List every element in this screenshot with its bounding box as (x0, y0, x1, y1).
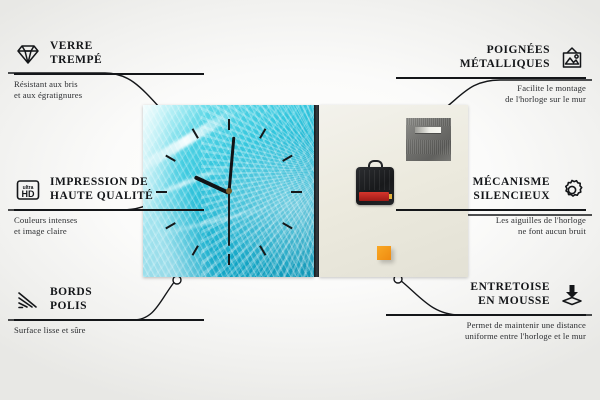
feature-verre-trempe: VERRE TREMPÉ Résistant aux bris et aux é… (14, 40, 204, 101)
picture-hanger-icon (558, 44, 586, 72)
feature-poignees-metalliques: POIGNÉES MÉTALLIQUES Facilite le montage… (396, 44, 586, 105)
divider (396, 209, 586, 211)
battery (359, 192, 389, 201)
feature-impression-haute-qualite: ultra HD IMPRESSION DE HAUTE QUALITÉ Cou… (14, 176, 204, 237)
metal-handle (406, 118, 451, 161)
clock-second-hand (228, 192, 230, 246)
feature-description: Résistant aux bris et aux égratignures (14, 79, 204, 102)
infographic-stage: VERRE TREMPÉ Résistant aux bris et aux é… (0, 0, 600, 400)
divider (14, 73, 204, 75)
feature-description: Facilite le montage de l'horloge sur le … (396, 83, 586, 106)
svg-text:HD: HD (22, 189, 35, 199)
feature-description: Surface lisse et sûre (14, 325, 204, 336)
feature-title: POIGNÉES MÉTALLIQUES (460, 44, 550, 71)
divider (14, 209, 204, 211)
foam-spacer (377, 246, 391, 260)
feature-title: ENTRETOISE EN MOUSSE (470, 281, 550, 308)
feature-bords-polis: BORDS POLIS Surface lisse et sûre (14, 286, 204, 336)
feature-title: IMPRESSION DE HAUTE QUALITÉ (50, 176, 153, 203)
feature-title: MÉCANISME SILENCIEUX (473, 176, 550, 203)
gear-icon (558, 176, 586, 204)
clock-center-cap (226, 188, 232, 194)
clock-mechanism (356, 167, 394, 205)
diamond-icon (14, 40, 42, 68)
mechanism-label (359, 170, 391, 190)
feature-header: ENTRETOISE EN MOUSSE (386, 281, 586, 309)
feature-entretoise-en-mousse: ENTRETOISE EN MOUSSE Permet de maintenir… (386, 281, 586, 342)
divider (386, 314, 586, 316)
divider (396, 77, 586, 79)
feature-title: VERRE TREMPÉ (50, 40, 102, 67)
feature-description: Couleurs intenses et image claire (14, 215, 204, 238)
feature-mecanisme-silencieux: MÉCANISME SILENCIEUX Les aiguilles de l'… (396, 176, 586, 237)
feature-header: VERRE TREMPÉ (14, 40, 204, 68)
feature-header: ultra HD IMPRESSION DE HAUTE QUALITÉ (14, 176, 204, 204)
feature-header: POIGNÉES MÉTALLIQUES (396, 44, 586, 72)
ultra-hd-icon: ultra HD (14, 176, 42, 204)
foam-spacer-icon (558, 281, 586, 309)
feature-description: Permet de maintenir une distance uniform… (386, 320, 586, 343)
handle-slot (415, 127, 441, 133)
divider (14, 319, 204, 321)
feature-header: MÉCANISME SILENCIEUX (396, 176, 586, 204)
feature-description: Les aiguilles de l'horloge ne font aucun… (396, 215, 586, 238)
mechanism-hanging-loop (368, 160, 383, 169)
leader-dot-bords-polis (173, 276, 181, 284)
feature-title: BORDS POLIS (50, 286, 92, 313)
polished-edges-icon (14, 286, 42, 314)
feature-header: BORDS POLIS (14, 286, 204, 314)
